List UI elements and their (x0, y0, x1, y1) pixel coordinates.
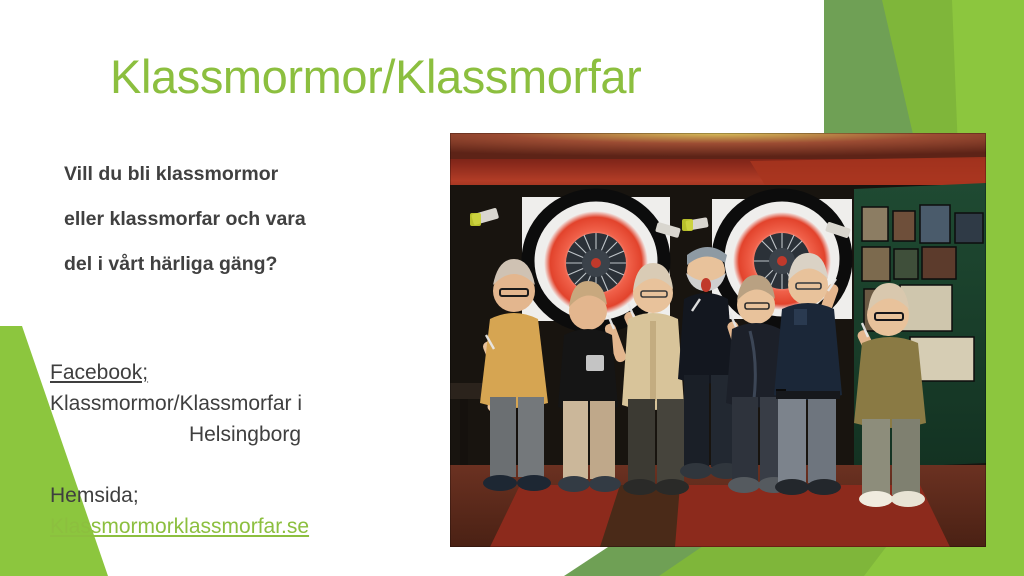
lead-paragraph: Vill du bli klassmormor eller klassmorfa… (64, 152, 424, 287)
website-info: Hemsida; Klassmormorklassmorfar.se (50, 481, 410, 542)
facebook-page-name-line-2: Helsingborg (50, 419, 410, 450)
group-photo (450, 133, 986, 547)
facebook-page-name-line-1: Klassmormor/Klassmorfar i (50, 388, 410, 419)
group-photo-image (450, 133, 986, 547)
website-link[interactable]: Klassmormorklassmorfar.se (50, 511, 410, 542)
lead-line-2: eller klassmorfar och vara (64, 197, 424, 242)
facebook-info: Facebook; Klassmormor/Klassmorfar i Hels… (50, 358, 410, 450)
website-heading: Hemsida; (50, 481, 410, 511)
slide: Klassmormor/Klassmorfar Vill du bli klas… (0, 0, 1024, 576)
lead-line-1: Vill du bli klassmormor (64, 152, 424, 197)
facebook-page-name: Klassmormor/Klassmorfar i Helsingborg (50, 388, 410, 450)
page-title: Klassmormor/Klassmorfar (110, 49, 641, 104)
facebook-heading: Facebook; (50, 358, 410, 388)
lead-line-3: del i vårt härliga gäng? (64, 242, 424, 287)
